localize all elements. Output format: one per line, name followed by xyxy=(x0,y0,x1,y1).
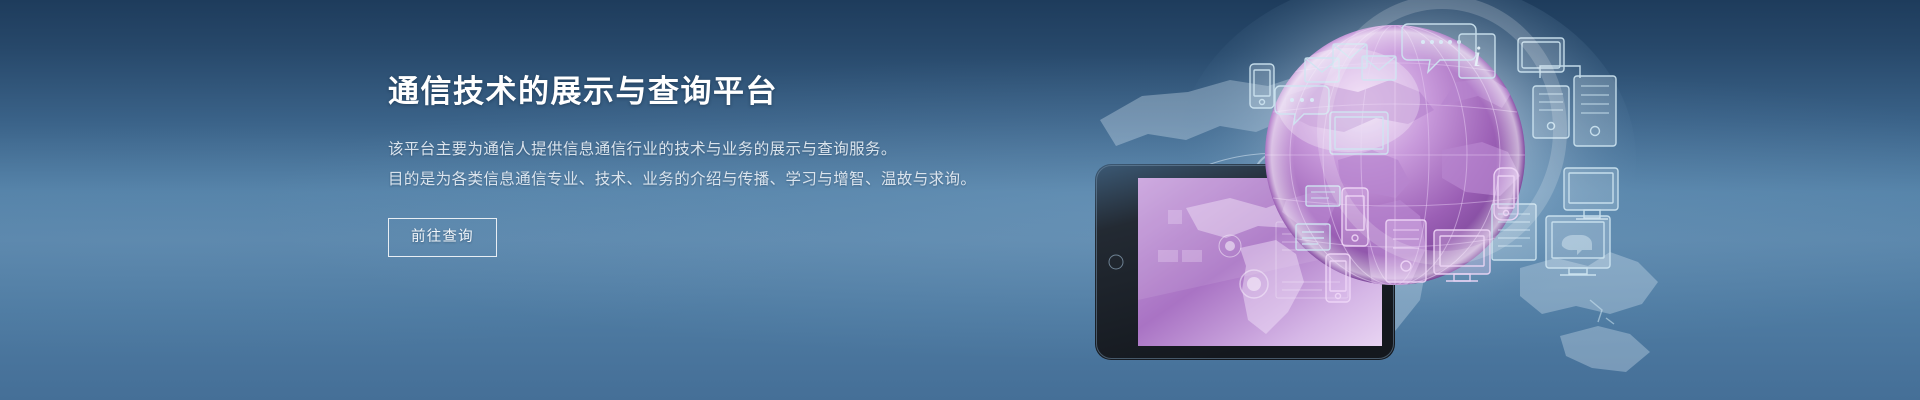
info-icon: i xyxy=(1459,34,1495,78)
document-list-icon xyxy=(1296,224,1330,250)
svg-text:i: i xyxy=(1473,40,1481,73)
hero-artwork: BUSINESS xyxy=(1090,0,1710,400)
smartphone-icon xyxy=(1250,64,1274,108)
description-line-1: 该平台主要为通信人提供信息通信行业的技术与业务的展示与查询服务。 xyxy=(388,135,1088,165)
page-title: 通信技术的展示与查询平台 xyxy=(388,72,1088,112)
hero-banner: 通信技术的展示与查询平台 该平台主要为通信人提供信息通信行业的技术与业务的展示与… xyxy=(0,0,1920,400)
go-to-query-button[interactable]: 前往查询 xyxy=(388,218,497,257)
smartphone-icon xyxy=(1494,168,1518,220)
window-frame-icon xyxy=(1330,112,1388,154)
banner-description: 该平台主要为通信人提供信息通信行业的技术与业务的展示与查询服务。 目的是为各类信… xyxy=(388,135,1088,195)
description-line-2: 目的是为各类信息通信专业、技术、业务的介绍与传播、学习与增智、温故与求询。 xyxy=(388,165,1088,195)
smartphone-icon xyxy=(1326,254,1350,302)
banner-copy: 通信技术的展示与查询平台 该平台主要为通信人提供信息通信行业的技术与业务的展示与… xyxy=(388,72,1088,257)
monitor-icon xyxy=(1546,216,1610,275)
